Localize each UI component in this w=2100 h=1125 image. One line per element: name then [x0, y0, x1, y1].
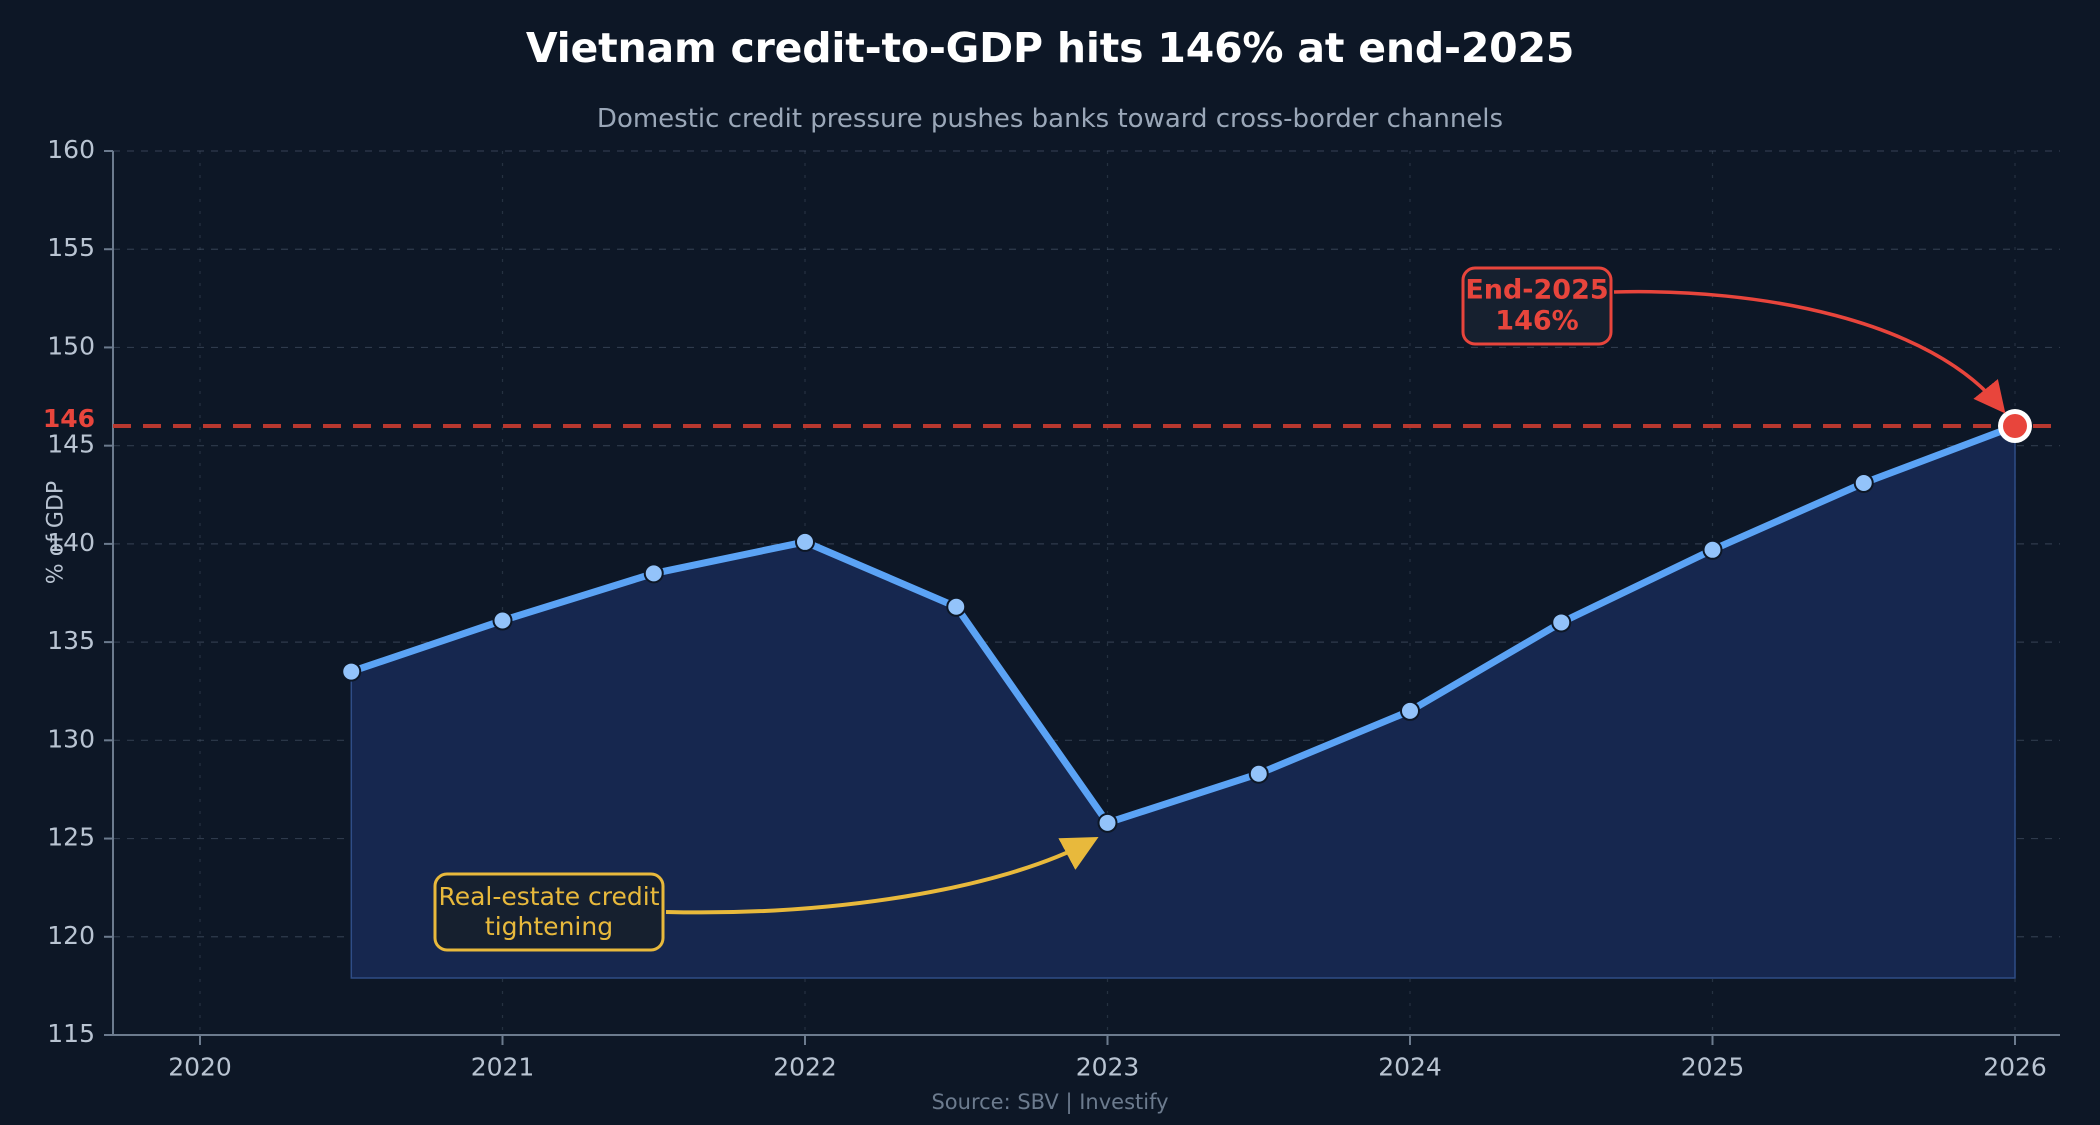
y-tick-label: 150	[47, 331, 95, 360]
plot-area: 115120125130135140145150155160 202020212…	[0, 0, 2100, 1125]
y-axis-tick-labels: 115120125130135140145150155160	[47, 135, 95, 1048]
data-point-marker[interactable]	[1552, 613, 1570, 631]
y-tick-label: 155	[47, 233, 95, 262]
data-point-marker[interactable]	[342, 663, 360, 681]
y-tick-label: 130	[47, 724, 95, 753]
reference-line-label: 146	[43, 404, 95, 433]
annotation-real-estate-line1: Real-estate credit	[438, 882, 659, 911]
x-tick-label: 2025	[1681, 1052, 1745, 1081]
data-point-marker[interactable]	[796, 533, 814, 551]
y-tick-label: 125	[47, 823, 95, 852]
y-tick-label: 160	[47, 135, 95, 164]
data-point-marker[interactable]	[1401, 702, 1419, 720]
x-tick-label: 2026	[1983, 1052, 2047, 1081]
highlight-point-2026[interactable]	[1998, 409, 2032, 443]
y-tick-label: 145	[47, 430, 95, 459]
data-point-marker[interactable]	[1099, 814, 1117, 832]
annotation-box-end-2025[interactable]: End-2025 146%	[1463, 268, 1611, 344]
annotation-real-estate-line2: tightening	[485, 912, 613, 941]
data-point-marker[interactable]	[1250, 765, 1268, 783]
y-tick-label: 135	[47, 626, 95, 655]
y-tick-label: 115	[47, 1019, 95, 1048]
x-tick-label: 2021	[471, 1052, 535, 1081]
annotation-end-2025-line2: 146%	[1495, 306, 1578, 337]
annotation-end-2025-line1: End-2025	[1465, 275, 1608, 306]
data-point-marker[interactable]	[645, 564, 663, 582]
data-point-marker[interactable]	[494, 612, 512, 630]
annotation-box-real-estate[interactable]: Real-estate credit tightening	[435, 874, 663, 950]
x-axis-tick-labels: 2020202120222023202420252026	[168, 1052, 2047, 1081]
y-tick-label: 120	[47, 921, 95, 950]
annotation-arrow-end-2025	[1614, 292, 2001, 408]
y-tick-label: 140	[47, 528, 95, 557]
data-point-marker[interactable]	[1855, 474, 1873, 492]
x-tick-label: 2023	[1076, 1052, 1140, 1081]
x-tick-label: 2024	[1378, 1052, 1442, 1081]
data-point-marker[interactable]	[947, 598, 965, 616]
data-point-marker[interactable]	[1704, 541, 1722, 559]
x-tick-label: 2020	[168, 1052, 232, 1081]
x-tick-label: 2022	[773, 1052, 837, 1081]
chart-root: Vietnam credit-to-GDP hits 146% at end-2…	[0, 0, 2100, 1125]
